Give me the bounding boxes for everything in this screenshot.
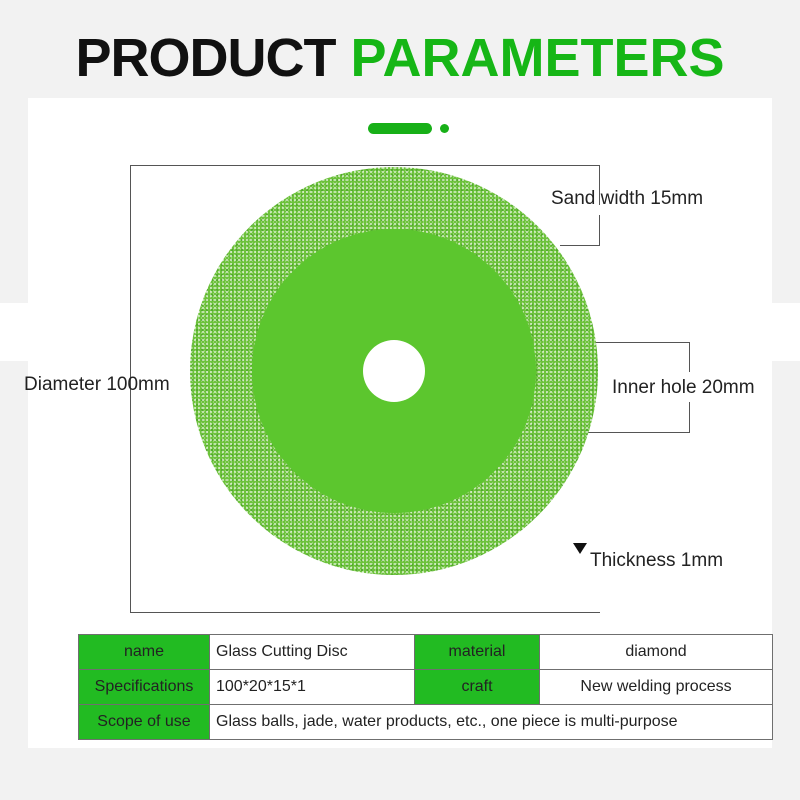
specification-table: name Glass Cutting Disc material diamond…: [78, 634, 773, 740]
table-cell-value-material: diamond: [540, 635, 773, 670]
table-cell-key-scope-of-use: Scope of use: [79, 705, 210, 740]
table-cell-value-craft: New welding process: [540, 670, 773, 705]
decorative-divider: [368, 123, 450, 134]
page-title-dark: PRODUCT: [75, 31, 335, 85]
sand-width-leader-lower-vertical: [599, 215, 600, 246]
label-inner-hole: Inner hole 20mm: [612, 377, 755, 399]
inner-hole-bracket-lower: [689, 402, 690, 433]
page-title-green: PARAMETERS: [335, 31, 724, 85]
table-cell-value-name: Glass Cutting Disc: [210, 635, 415, 670]
label-thickness: Thickness 1mm: [590, 550, 723, 572]
page-title: PRODUCT PARAMETERS: [0, 22, 800, 94]
table-row: name Glass Cutting Disc material diamond: [79, 635, 773, 670]
diameter-leader-bottom: [130, 612, 600, 613]
table-row: Specifications 100*20*15*1 craft New wel…: [79, 670, 773, 705]
decorative-bar-icon: [368, 123, 432, 134]
table-row: Scope of use Glass balls, jade, water pr…: [79, 705, 773, 740]
table-cell-key-specifications: Specifications: [79, 670, 210, 705]
table-cell-value-scope-of-use: Glass balls, jade, water products, etc.,…: [210, 705, 773, 740]
disc-center-hole: [363, 340, 425, 402]
decorative-dot-icon: [440, 124, 449, 133]
table-cell-key-name: name: [79, 635, 210, 670]
cutting-disc-illustration: [190, 167, 598, 575]
table-cell-key-material: material: [415, 635, 540, 670]
label-diameter: Diameter 100mm: [24, 374, 170, 396]
inner-hole-bracket-upper: [689, 342, 690, 372]
table-cell-value-specifications: 100*20*15*1: [210, 670, 415, 705]
table-cell-key-craft: craft: [415, 670, 540, 705]
